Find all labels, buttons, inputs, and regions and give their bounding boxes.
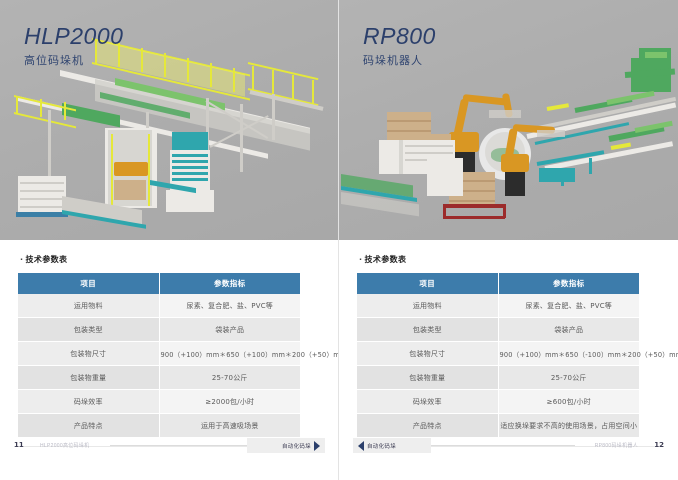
spec-heading-left: ·技术参数表 bbox=[20, 254, 323, 265]
hero-right: RP800 码垛机器人 bbox=[339, 0, 678, 240]
panel-divider bbox=[338, 0, 339, 480]
row-value: 900（+100）mm＊650（-100）mm＊200（+50）mm bbox=[498, 342, 639, 366]
row-value: 25-70公斤 bbox=[159, 366, 300, 390]
slide-pair: HLP2000 高位码垛机 ·技术参数表 项目 参数指标 运用物料 尿素、 bbox=[0, 0, 678, 480]
row-value: 25-70公斤 bbox=[498, 366, 639, 390]
row-key: 运用物料 bbox=[357, 294, 498, 318]
table-row: 产品特点 适应换垛要求不高的使用场景，占用空间小 bbox=[357, 414, 639, 438]
table-row: 码垛效率 ≥2000包/小时 bbox=[18, 390, 300, 414]
hero-title-left: HLP2000 高位码垛机 bbox=[24, 24, 123, 68]
spec-heading-text: 技术参数表 bbox=[364, 255, 406, 264]
spec-table-left: 项目 参数指标 运用物料 尿素、复合肥、盐、PVC等 包装类型 袋装产品 包装物… bbox=[18, 273, 300, 438]
row-value: 尿素、复合肥、盐、PVC等 bbox=[159, 294, 300, 318]
table-header-row: 项目 参数指标 bbox=[357, 273, 639, 294]
table-row: 码垛效率 ≥600包/小时 bbox=[357, 390, 639, 414]
triangle-right-icon bbox=[314, 441, 320, 451]
table-row: 运用物料 尿素、复合肥、盐、PVC等 bbox=[18, 294, 300, 318]
table-row: 包装物重量 25-70公斤 bbox=[18, 366, 300, 390]
row-value: ≥600包/小时 bbox=[498, 390, 639, 414]
row-key: 包装物尺寸 bbox=[18, 342, 159, 366]
page-number: 12 bbox=[654, 441, 664, 449]
table-header-row: 项目 参数指标 bbox=[18, 273, 300, 294]
row-key: 产品特点 bbox=[357, 414, 498, 438]
hero-left: HLP2000 高位码垛机 bbox=[0, 0, 339, 240]
bullet-marker: · bbox=[359, 255, 362, 264]
model-name: HLP2000 bbox=[24, 24, 123, 48]
row-key: 码垛效率 bbox=[357, 390, 498, 414]
spec-section-right: ·技术参数表 项目 参数指标 运用物料 尿素、复合肥、盐、PVC等 包装类型 bbox=[339, 240, 678, 438]
column-header-item: 项目 bbox=[18, 273, 159, 294]
row-value: ≥2000包/小时 bbox=[159, 390, 300, 414]
row-key: 包装物重量 bbox=[18, 366, 159, 390]
progress-track bbox=[110, 445, 255, 446]
footer-right: 12 RP800码垛机器人 自动化码垛 bbox=[339, 438, 678, 480]
prev-slide-button[interactable]: 自动化码垛 bbox=[353, 438, 431, 453]
footer-caption: HLP2000高位码垛机 bbox=[40, 442, 89, 449]
table-row: 包装物尺寸 900（+100）mm＊650（-100）mm＊200（+50）mm bbox=[357, 342, 639, 366]
row-key: 包装类型 bbox=[18, 318, 159, 342]
table-row: 包装类型 袋装产品 bbox=[18, 318, 300, 342]
row-value: 袋装产品 bbox=[159, 318, 300, 342]
next-slide-label: 自动化码垛 bbox=[282, 442, 311, 450]
row-key: 产品特点 bbox=[18, 414, 159, 438]
hero-title-right: RP800 码垛机器人 bbox=[363, 24, 436, 68]
spec-heading-text: 技术参数表 bbox=[25, 255, 67, 264]
model-name: RP800 bbox=[363, 24, 436, 48]
footer-caption: RP800码垛机器人 bbox=[595, 442, 638, 449]
row-key: 码垛效率 bbox=[18, 390, 159, 414]
triangle-left-icon bbox=[358, 441, 364, 451]
progress-track bbox=[425, 445, 575, 446]
row-value: 适应换垛要求不高的使用场景，占用空间小 bbox=[498, 414, 639, 438]
next-slide-button[interactable]: 自动化码垛 bbox=[247, 438, 325, 453]
row-key: 包装物尺寸 bbox=[357, 342, 498, 366]
row-value: 900（+100）mm＊650（+100）mm＊200（+50）mm bbox=[159, 342, 300, 366]
column-header-item: 项目 bbox=[357, 273, 498, 294]
row-value: 袋装产品 bbox=[498, 318, 639, 342]
column-header-value: 参数指标 bbox=[159, 273, 300, 294]
table-row: 包装物尺寸 900（+100）mm＊650（+100）mm＊200（+50）mm bbox=[18, 342, 300, 366]
spec-heading-right: ·技术参数表 bbox=[359, 254, 662, 265]
table-row: 产品特点 运用于高速吸场景 bbox=[18, 414, 300, 438]
row-key: 包装物重量 bbox=[357, 366, 498, 390]
row-key: 运用物料 bbox=[18, 294, 159, 318]
bullet-marker: · bbox=[20, 255, 23, 264]
panel-right: RP800 码垛机器人 ·技术参数表 项目 参数指标 运用物料 尿素、复合 bbox=[339, 0, 678, 480]
prev-slide-label: 自动化码垛 bbox=[367, 442, 396, 450]
table-row: 包装物重量 25-70公斤 bbox=[357, 366, 639, 390]
spec-section-left: ·技术参数表 项目 参数指标 运用物料 尿素、复合肥、盐、PVC等 包装类型 bbox=[0, 240, 339, 438]
model-subtitle: 高位码垛机 bbox=[24, 52, 123, 68]
footer-left: 11 HLP2000高位码垛机 自动化码垛 bbox=[0, 438, 339, 480]
panel-left: HLP2000 高位码垛机 ·技术参数表 项目 参数指标 运用物料 尿素、 bbox=[0, 0, 339, 480]
model-subtitle: 码垛机器人 bbox=[363, 52, 436, 68]
column-header-value: 参数指标 bbox=[498, 273, 639, 294]
row-value: 运用于高速吸场景 bbox=[159, 414, 300, 438]
page-number: 11 bbox=[14, 441, 24, 449]
row-value: 尿素、复合肥、盐、PVC等 bbox=[498, 294, 639, 318]
table-row: 运用物料 尿素、复合肥、盐、PVC等 bbox=[357, 294, 639, 318]
row-key: 包装类型 bbox=[357, 318, 498, 342]
spec-table-right: 项目 参数指标 运用物料 尿素、复合肥、盐、PVC等 包装类型 袋装产品 包装物… bbox=[357, 273, 639, 438]
table-row: 包装类型 袋装产品 bbox=[357, 318, 639, 342]
